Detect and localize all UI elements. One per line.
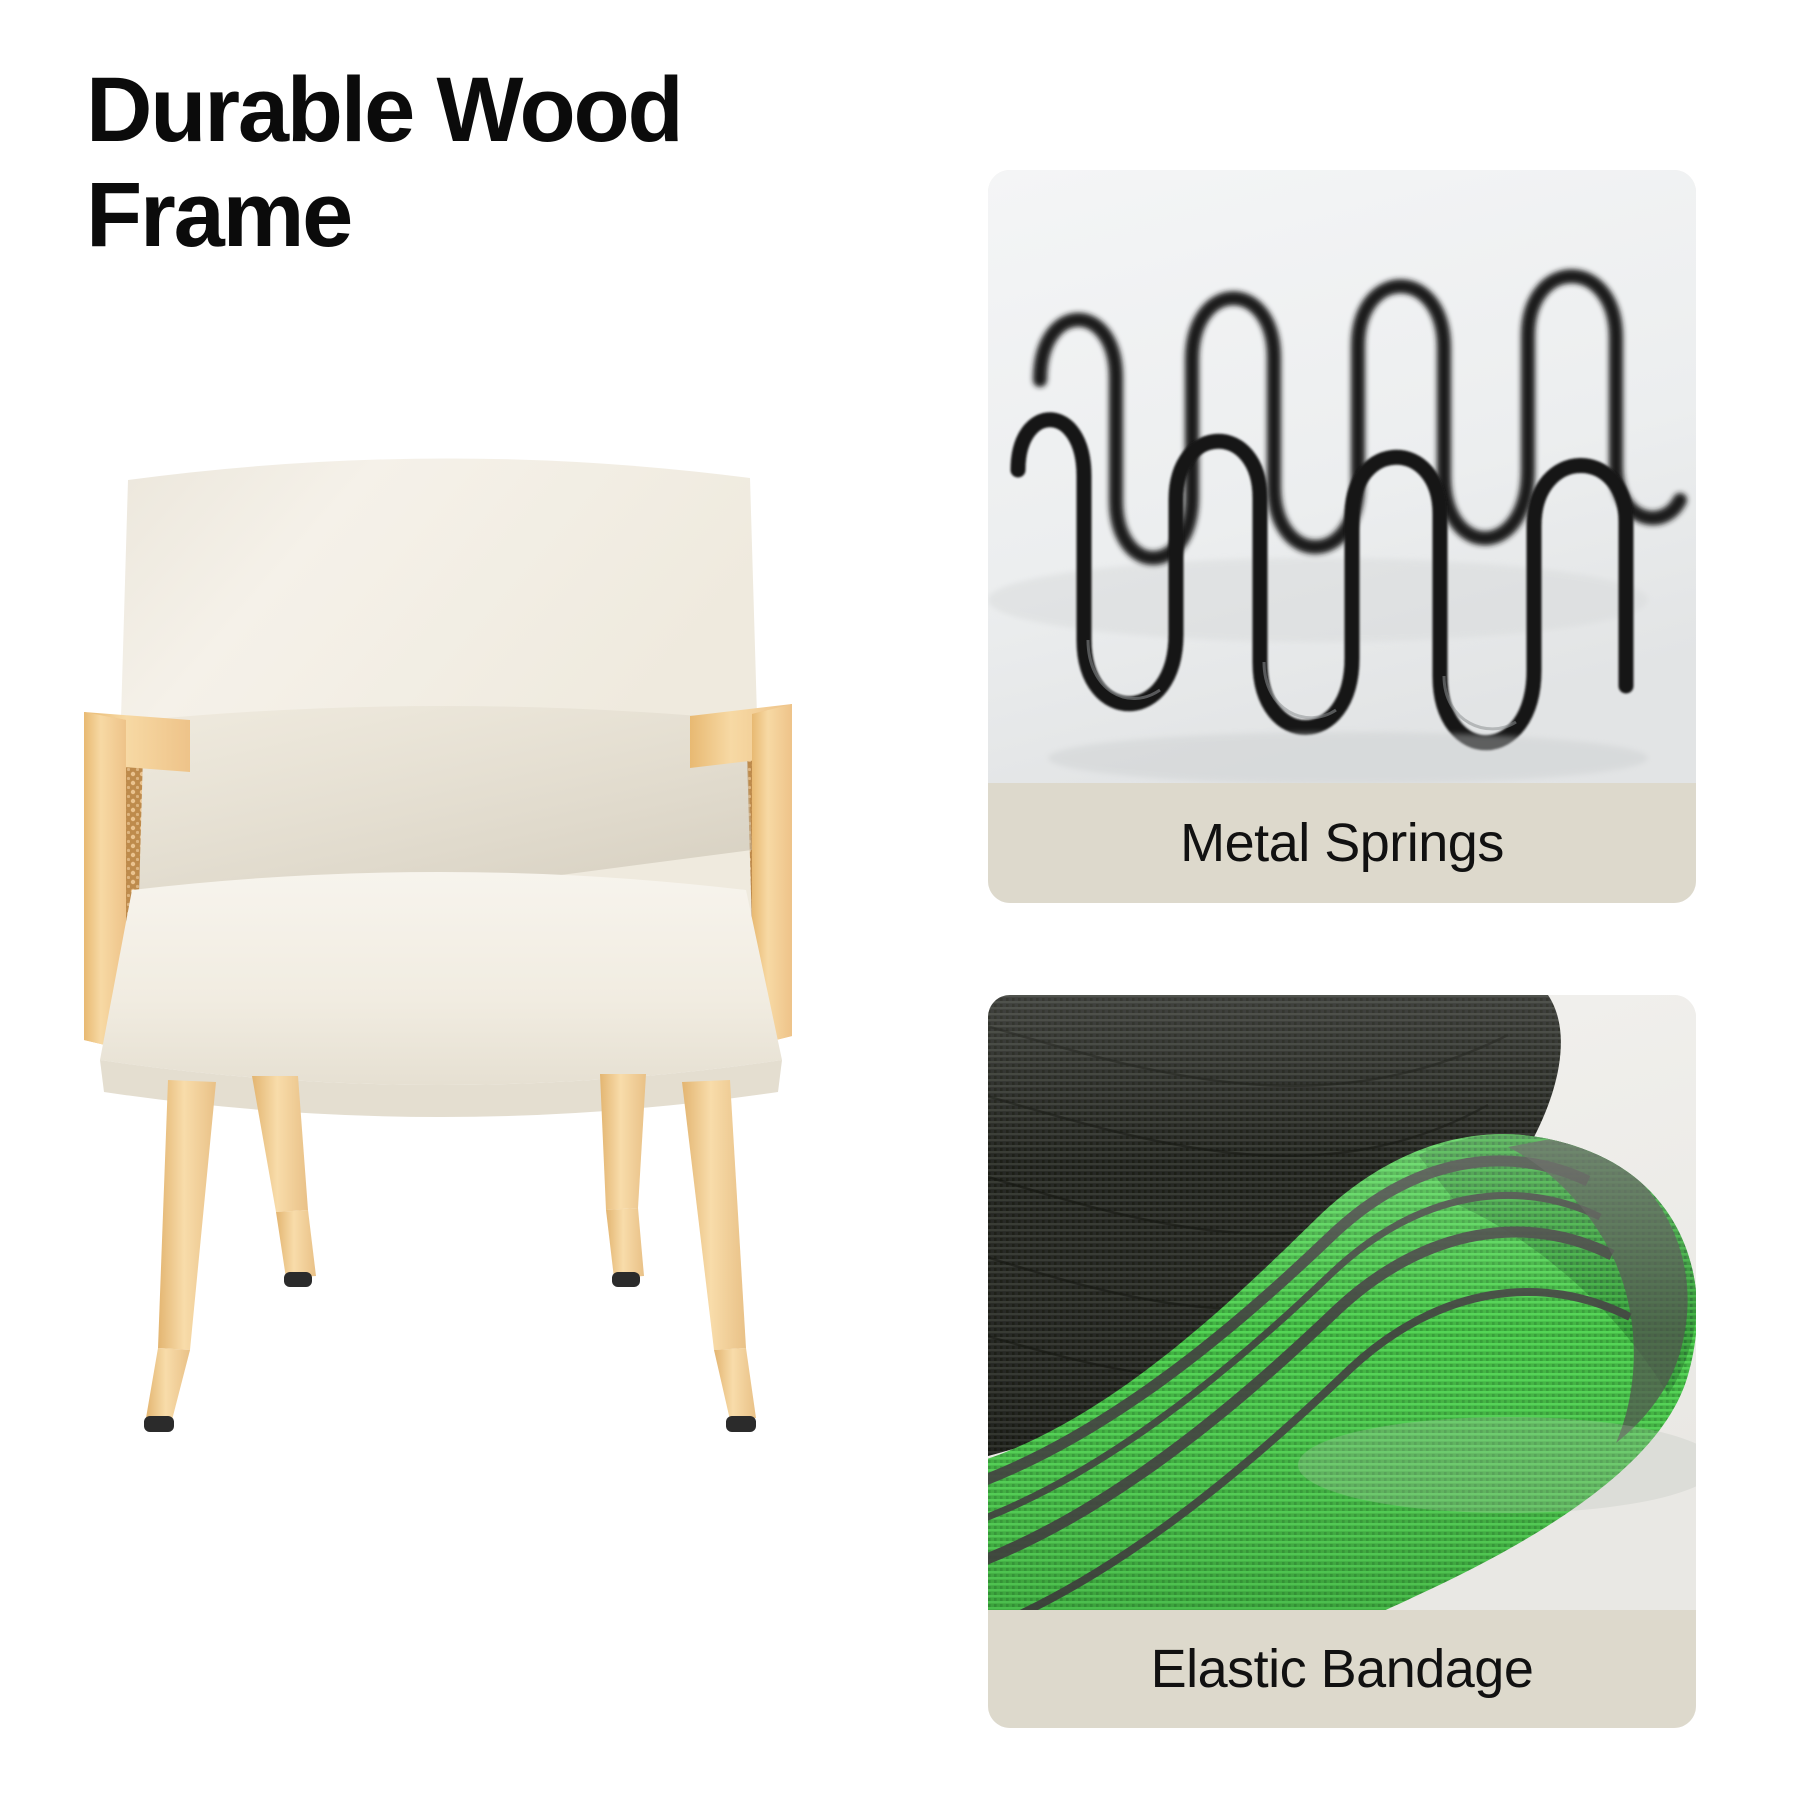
metal-springs-photo xyxy=(988,170,1696,783)
chair-legs xyxy=(144,1074,756,1432)
chair-seat xyxy=(100,872,782,1085)
card-caption-label: Elastic Bandage xyxy=(1151,1638,1534,1700)
elastic-bandage-photo xyxy=(988,995,1696,1610)
elastic-webbing-illustration xyxy=(988,995,1696,1610)
hero-product-image xyxy=(40,420,860,1540)
feature-card-metal-springs[interactable]: Metal Springs xyxy=(988,170,1696,903)
card-caption-bar: Metal Springs xyxy=(988,783,1696,903)
page-title: Durable Wood Frame xyxy=(86,58,886,268)
feature-card-elastic-bandage[interactable]: Elastic Bandage xyxy=(988,995,1696,1728)
marketing-infographic: Durable Wood Frame xyxy=(0,0,1800,1800)
card-caption-label: Metal Springs xyxy=(1180,812,1504,874)
serpentine-springs-illustration xyxy=(988,170,1696,783)
card-caption-bar: Elastic Bandage xyxy=(988,1610,1696,1728)
armchair-illustration xyxy=(40,420,860,1540)
